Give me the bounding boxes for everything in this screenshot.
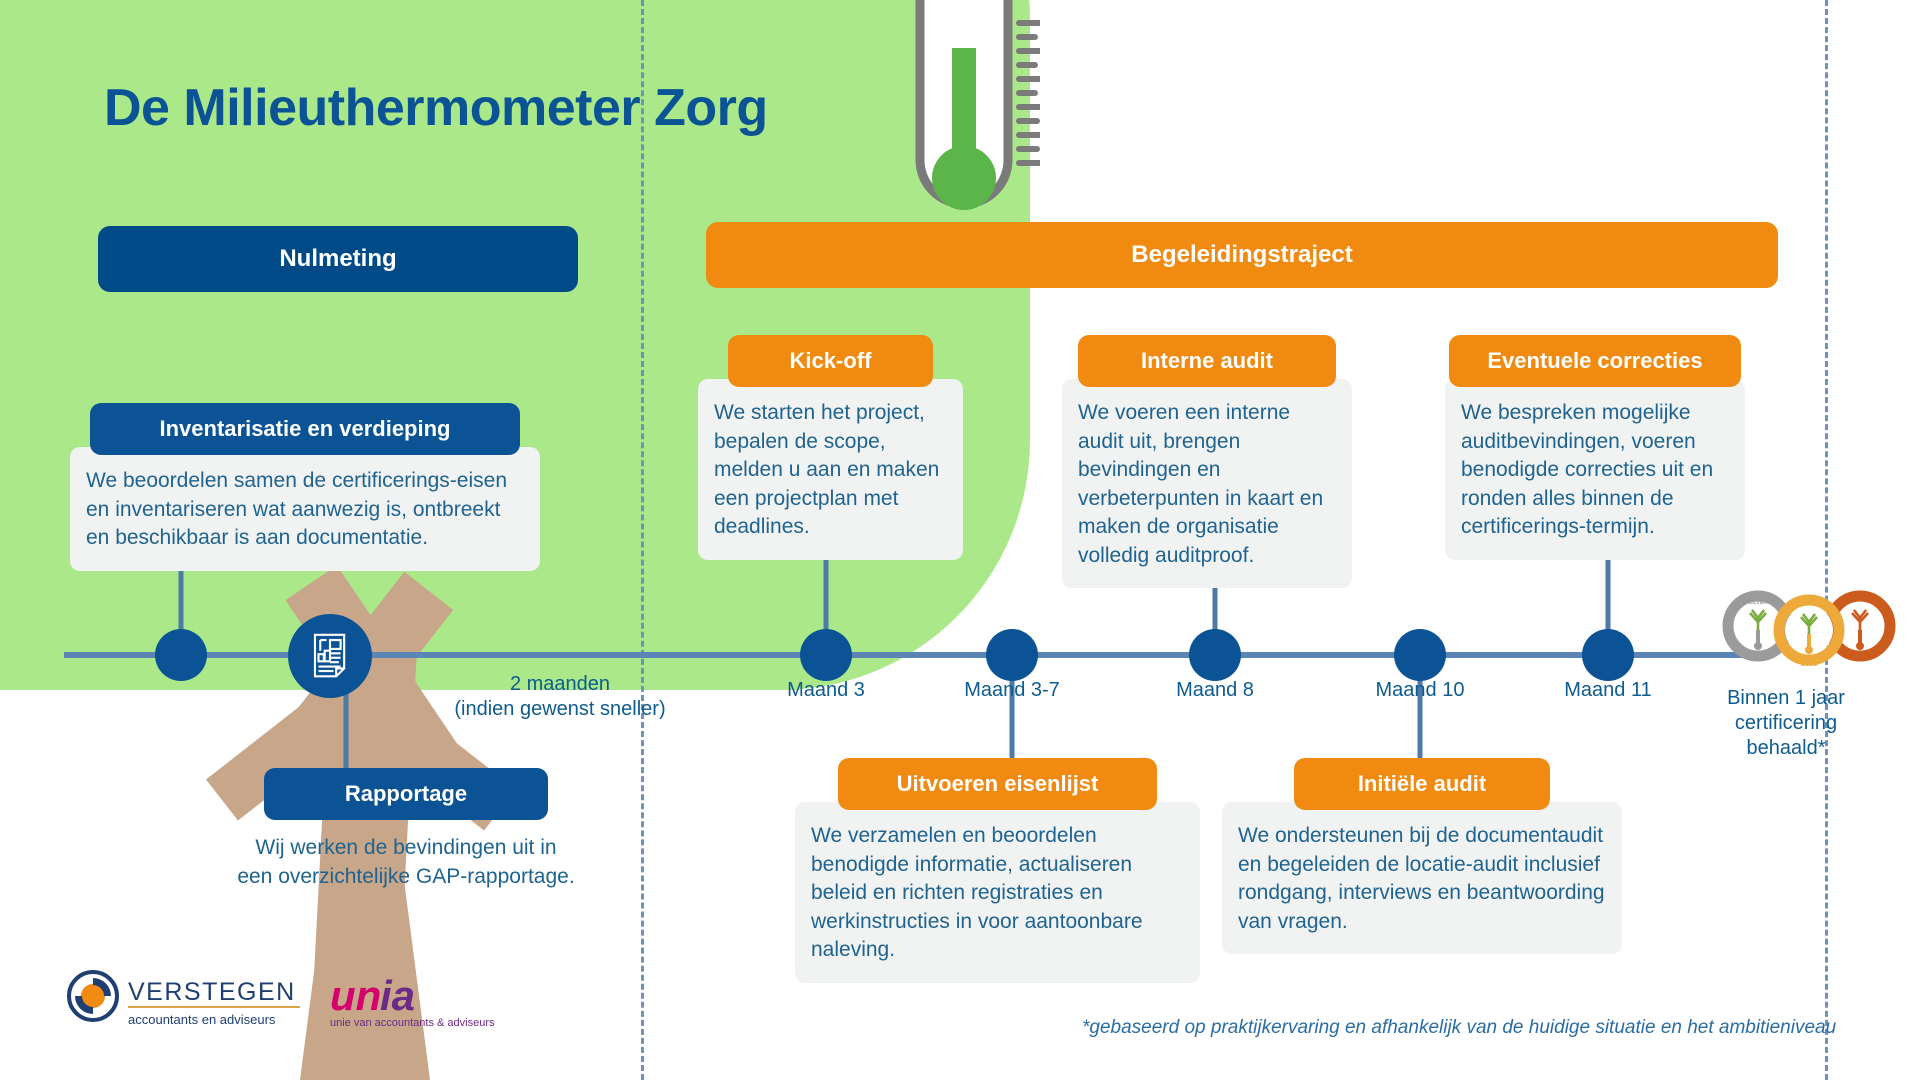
card-kickoff: Kick-off We starten het project, bepalen… xyxy=(698,335,963,560)
report-document-icon xyxy=(288,614,372,698)
timeline-node-maand-3 xyxy=(800,629,852,681)
timeline-node-start xyxy=(155,629,207,681)
card-title: Uitvoeren eisenlijst xyxy=(838,758,1157,810)
certification-badges: ZILVER BRONS GOUD xyxy=(1714,582,1904,660)
svg-text:VERSTEGEN: VERSTEGEN xyxy=(128,978,296,1006)
card-body: We starten het project, bepalen de scope… xyxy=(698,379,963,560)
logo-unia: un ia unie van accountants & adviseurs xyxy=(328,972,498,1032)
card-rapportage: Rapportage Wij werken de bevindingen uit… xyxy=(236,768,576,891)
divider-right xyxy=(1825,0,1828,1080)
svg-text:unie van accountants & adviseu: unie van accountants & adviseurs xyxy=(330,1017,495,1029)
card-inventarisatie: Inventarisatie en verdieping We beoordel… xyxy=(70,403,540,571)
end-label-line-3: behaald* xyxy=(1701,736,1871,761)
timeline-label-twee-maanden: 2 maanden (indien gewenst sneller) xyxy=(454,672,665,722)
timeline-label-maand-3-7: Maand 3-7 xyxy=(964,678,1060,703)
end-label-line-2: certificering xyxy=(1701,711,1871,736)
svg-text:accountants en adviseurs: accountants en adviseurs xyxy=(128,1012,276,1027)
timeline-label-maand-11: Maand 11 xyxy=(1564,678,1651,703)
timeline-node-maand-11 xyxy=(1582,629,1634,681)
card-title: Rapportage xyxy=(264,768,548,820)
svg-text:BRONS: BRONS xyxy=(1851,594,1870,600)
timeline-label-maand-8: Maand 8 xyxy=(1176,678,1254,703)
timeline-end-label: Binnen 1 jaar certificering behaald* xyxy=(1701,686,1871,761)
timeline-node-maand-10 xyxy=(1394,629,1446,681)
card-body: We verzamelen en beoordelen benodigde in… xyxy=(795,802,1200,983)
label-line-1: 2 maanden xyxy=(454,672,665,697)
timeline-label-maand-10: Maand 10 xyxy=(1376,678,1465,703)
card-title: Kick-off xyxy=(728,335,933,387)
thermometer-icon xyxy=(890,0,1040,232)
svg-text:GOUD: GOUD xyxy=(1801,662,1818,668)
footnote: *gebaseerd op praktijkervaring en afhank… xyxy=(1082,1017,1836,1039)
card-initiele-audit: Initiële audit We ondersteunen bij de do… xyxy=(1222,758,1622,954)
card-body: We ondersteunen bij de documentaudit en … xyxy=(1222,802,1622,954)
svg-text:un: un xyxy=(330,972,381,1019)
phase-label: Begeleidingstraject xyxy=(1131,241,1352,269)
card-title: Initiële audit xyxy=(1294,758,1550,810)
end-label-line-1: Binnen 1 jaar xyxy=(1701,686,1871,711)
timeline-node-maand-8 xyxy=(1189,629,1241,681)
svg-text:ia: ia xyxy=(380,972,415,1019)
card-body: We voeren een interne audit uit, brengen… xyxy=(1062,379,1352,588)
phase-label: Nulmeting xyxy=(279,245,396,273)
label-line-2: (indien gewenst sneller) xyxy=(454,697,665,722)
badge-goud: GOUD xyxy=(1779,600,1839,668)
card-title: Interne audit xyxy=(1078,335,1336,387)
card-eventuele-correcties: Eventuele correcties We bespreken mogeli… xyxy=(1445,335,1745,560)
card-body: We beoordelen samen de certificerings-ei… xyxy=(70,447,540,571)
card-title: Inventarisatie en verdieping xyxy=(90,403,520,455)
phase-header-nulmeting: Nulmeting xyxy=(98,226,578,292)
infographic-canvas: De Milieuthermometer Zorg xyxy=(0,0,1920,1080)
card-body: Wij werken de bevindingen uit in een ove… xyxy=(236,820,576,891)
card-title: Eventuele correcties xyxy=(1449,335,1741,387)
svg-text:ZILVER: ZILVER xyxy=(1749,600,1767,606)
card-body: We bespreken mogelijke auditbevindingen,… xyxy=(1445,379,1745,560)
divider-left xyxy=(641,0,644,1080)
timeline-label-maand-3: Maand 3 xyxy=(787,678,865,703)
card-interne-audit: Interne audit We voeren een interne audi… xyxy=(1062,335,1352,588)
card-uitvoeren-eisenlijst: Uitvoeren eisenlijst We verzamelen en be… xyxy=(795,758,1200,983)
phase-header-begeleidingstraject: Begeleidingstraject xyxy=(706,222,1778,288)
timeline-node-maand-3-7 xyxy=(986,629,1038,681)
page-title: De Milieuthermometer Zorg xyxy=(104,78,768,138)
logo-verstegen: VERSTEGEN accountants en adviseurs xyxy=(66,968,306,1030)
